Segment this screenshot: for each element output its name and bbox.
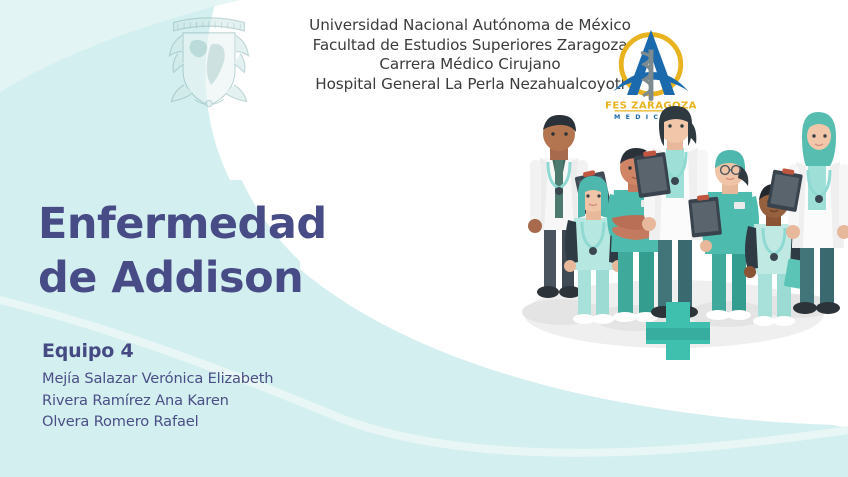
team-member-2: Rivera Ramírez Ana Karen <box>42 390 402 412</box>
unam-shield-emblem-icon <box>155 10 263 114</box>
team-member-3: Olvera Romero Rafael <box>42 411 402 433</box>
page-title-line-1: Enfermedad <box>38 199 327 249</box>
team-heading: Equipo 4 <box>42 339 402 364</box>
medical-team-illustration <box>500 100 848 360</box>
page-title-line-2: de Addison <box>38 251 378 305</box>
team-member-1: Mejía Salazar Verónica Elizabeth <box>42 368 402 390</box>
page-title: Enfermedad de Addison <box>38 197 378 305</box>
presentation-slide: Universidad Nacional Autónoma de México … <box>0 0 848 477</box>
team-block: Equipo 4 Mejía Salazar Verónica Elizabet… <box>42 339 402 433</box>
